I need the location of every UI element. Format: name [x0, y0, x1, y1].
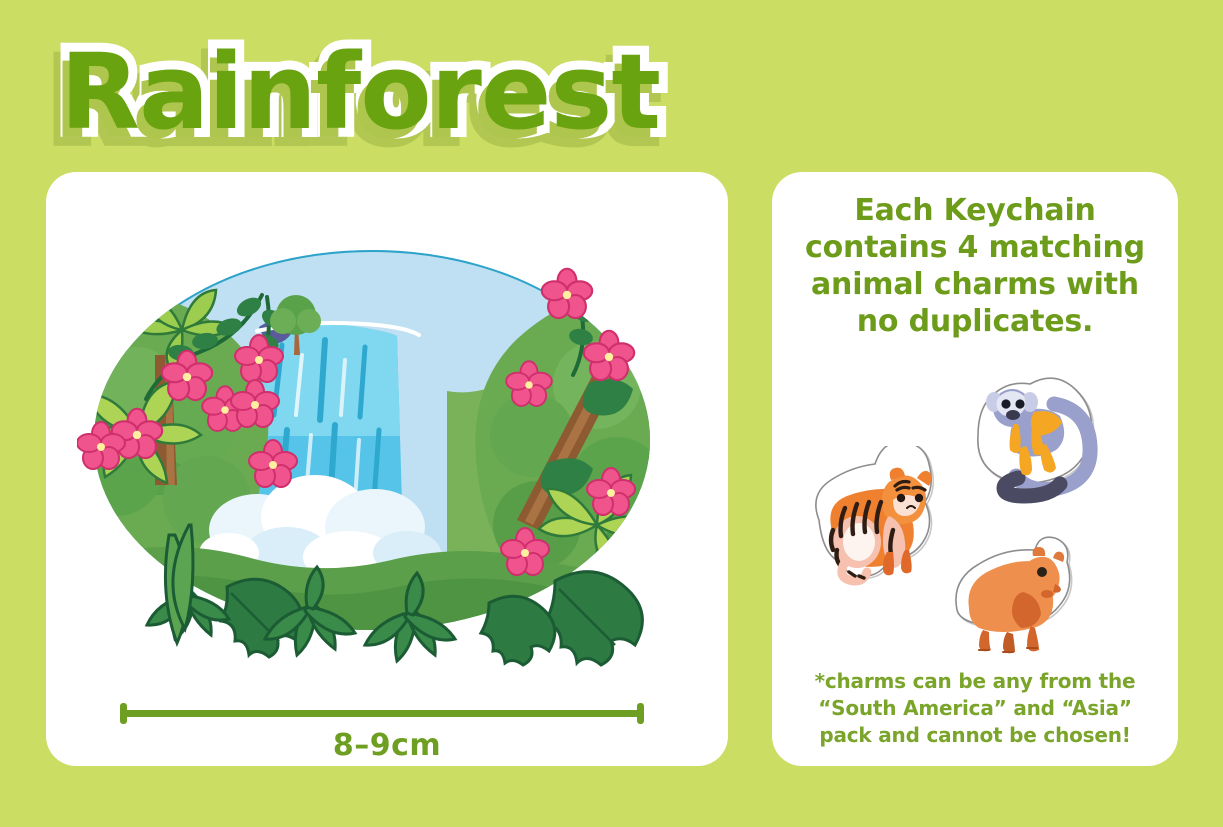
capybara-charm	[935, 522, 1080, 667]
tiger-charm	[797, 446, 952, 596]
info-line-2: contains 4 matching	[788, 229, 1162, 266]
page-title: Rainforest Rainforest	[60, 28, 620, 156]
footnote-line-2: “South America” and “Asia”	[788, 695, 1162, 722]
info-line-3: animal charms with	[788, 266, 1162, 303]
monkey-charm	[960, 372, 1100, 512]
info-line-1: Each Keychain	[788, 192, 1162, 229]
keychain-info-text: Each Keychain contains 4 matching animal…	[788, 192, 1162, 340]
info-line-4: no duplicates.	[788, 303, 1162, 340]
charms-footnote: *charms can be any from the “South Ameri…	[788, 668, 1162, 749]
ruler-line	[120, 710, 644, 717]
size-label: 8–9cm	[46, 728, 728, 763]
size-ruler	[120, 703, 644, 723]
ruler-cap-right	[637, 703, 644, 724]
footnote-line-1: *charms can be any from the	[788, 668, 1162, 695]
page-title-text: Rainforest	[60, 28, 660, 156]
ruler-cap-left	[120, 703, 127, 724]
rainforest-illustration	[77, 235, 667, 680]
footnote-line-3: pack and cannot be chosen!	[788, 722, 1162, 749]
